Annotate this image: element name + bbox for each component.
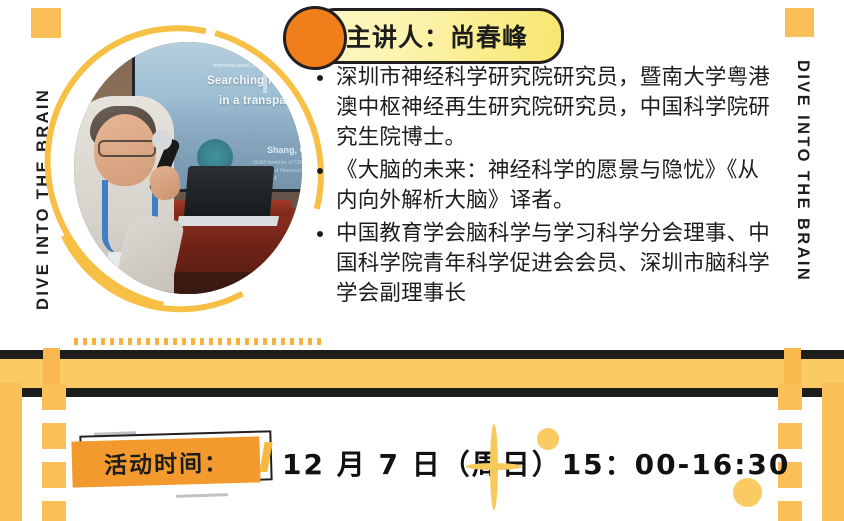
decor-orange-circle [283,6,347,70]
speaker-photo: International Joint Conference on Neuros… [74,42,302,294]
poster-canvas: DIVE INTO THE BRAIN DIVE INTO THE BRAIN … [0,0,844,521]
side-text-left: DIVE INTO THE BRAIN [34,60,57,310]
slide-title-line2: in a transparent b [219,95,302,107]
slide-eyebrow: International Joint Conference on Neuros… [213,63,302,69]
schedule-label-badge: 活动时间： [72,439,262,486]
decor-tick-lower [176,493,228,498]
bio-item: 《大脑的未来：神经科学的愿景与隐忧》《从内向外解析大脑》译者。 [336,155,780,216]
sparkle-icon [466,424,522,510]
decor-square-top-left [31,8,61,38]
decor-dot-1 [537,428,559,450]
divider-band [0,341,844,403]
decor-bar-right [822,383,844,521]
speaker-bio: 深圳市神经科学研究院研究员，暨南大学粤港澳中枢神经再生研究院研究员，中国科学院研… [312,62,780,311]
speaker-name-badge: 主讲人：尚春峰 [310,8,564,64]
decor-bar-left [0,383,22,521]
schedule-value: 12 月 7 日（周日）15：00-16:30 [282,443,790,483]
decor-dash-column-left [42,384,66,521]
decor-square-top-right [785,8,814,37]
speaker-name-label: 主讲人：尚春峰 [346,18,528,54]
decor-dot-2 [733,478,762,507]
bio-item: 中国教育学会脑科学与学习科学分会理事、中国科学院青年科学促进会会员、深圳市脑科学… [336,218,780,309]
schedule-label: 活动时间： [103,444,229,481]
slide-author: Shang, Chun-feng [267,145,302,155]
bio-item: 深圳市神经科学研究院研究员，暨南大学粤港澳中枢神经再生研究院研究员，中国科学院研… [336,62,780,153]
slide-title-line1: Searching for neural [207,75,302,87]
side-text-right: DIVE INTO THE BRAIN [789,60,812,310]
